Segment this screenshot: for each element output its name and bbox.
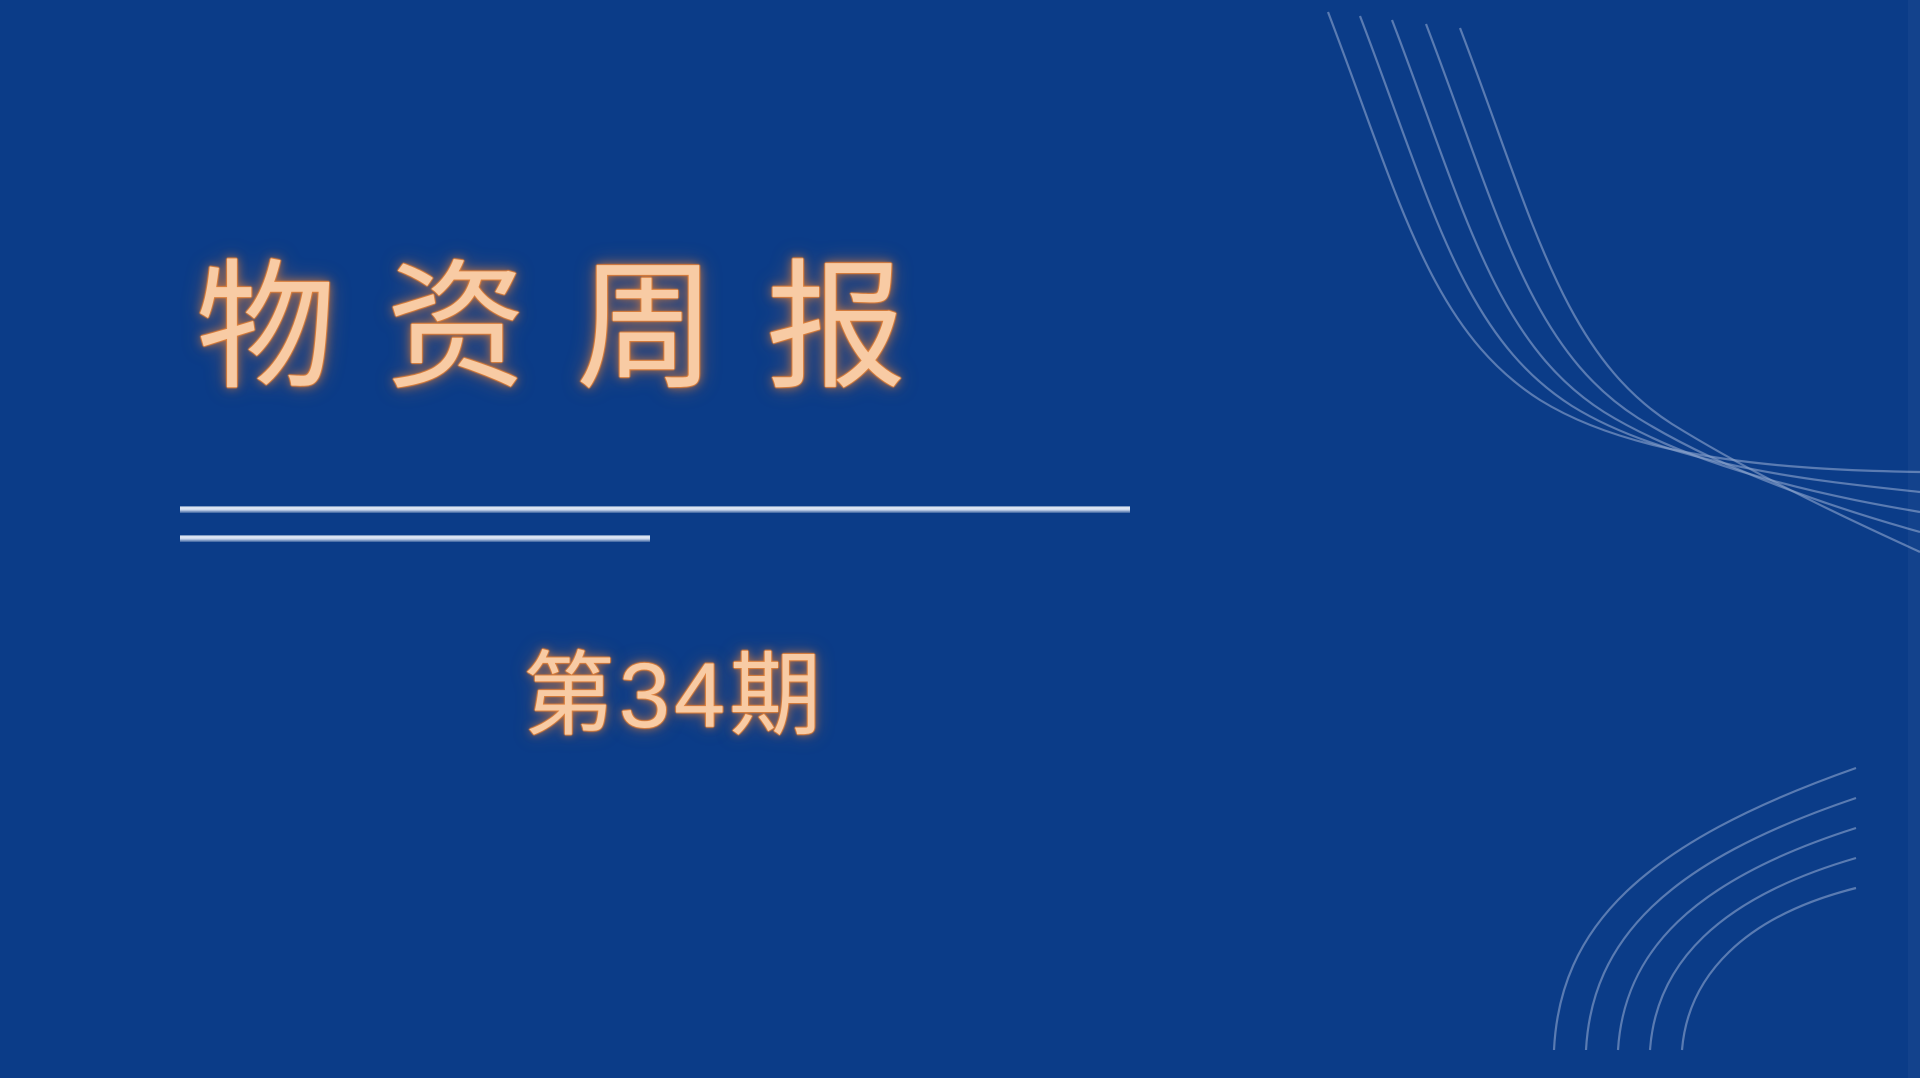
- title-underline-short: [180, 535, 650, 542]
- deco-curve-1: [1328, 12, 1920, 472]
- deco-curve-2: [1360, 16, 1920, 492]
- title-block: 物资周报: [196, 258, 1196, 398]
- deco-arc-3: [1618, 828, 1856, 1050]
- deco-arc-2: [1586, 798, 1856, 1050]
- issue-subtitle: 第34期: [0, 650, 1348, 742]
- right-edge-band: [1908, 0, 1920, 1078]
- cover-slide: 物资周报 第34期: [0, 0, 1920, 1078]
- deco-curve-4: [1426, 24, 1920, 532]
- title-underline-long: [180, 506, 1130, 513]
- top-right-curves-svg: [1280, 0, 1920, 600]
- deco-arc-1: [1554, 768, 1856, 1050]
- deco-curve-3: [1392, 20, 1920, 512]
- deco-arc-5: [1682, 888, 1856, 1050]
- page-title: 物资周报: [196, 258, 1196, 398]
- deco-arc-4: [1650, 858, 1856, 1050]
- bottom-right-arc-decoration: [1520, 748, 1920, 1078]
- deco-curve-5: [1460, 28, 1920, 552]
- bottom-right-arcs-svg: [1520, 748, 1920, 1078]
- top-right-curve-decoration: [1280, 0, 1920, 600]
